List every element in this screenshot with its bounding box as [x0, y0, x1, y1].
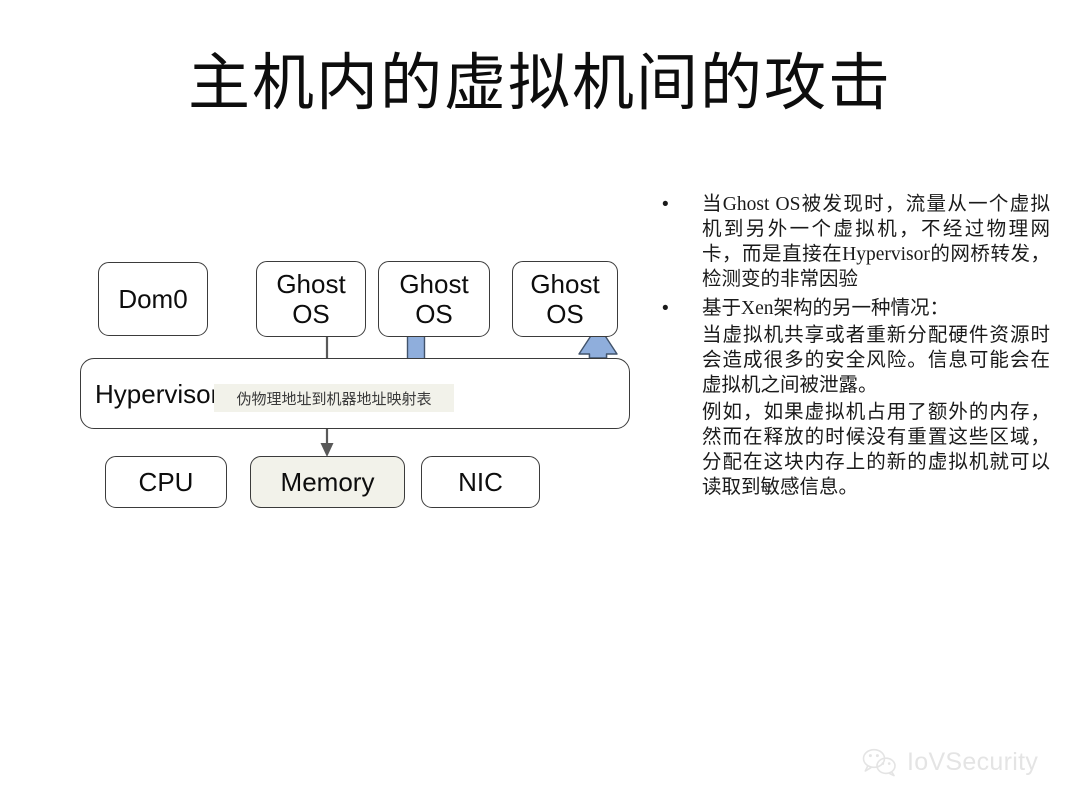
diagram-node-ghost-os-1: Ghost OS: [256, 261, 366, 337]
diagram-node-cpu: CPU: [105, 456, 227, 508]
bullet-marker: •: [662, 296, 669, 321]
bullet-list: • 当Ghost OS被发现时，流量从一个虚拟机到另外一个虚拟机，不经过物理网卡…: [650, 192, 1050, 504]
diagram-node-memory: Memory: [250, 456, 405, 508]
mapping-table-label: 伪物理地址到机器地址映射表: [214, 384, 454, 412]
wechat-icon: [862, 747, 898, 777]
bullet-1-paragraph-1: 当Ghost OS被发现时，流量从一个虚拟机到另外一个虚拟机，不经过物理网卡，而…: [702, 192, 1050, 292]
bullet-2-paragraph-3: 例如，如果虚拟机占用了额外的内存，然而在释放的时候没有重置这些区域，分配在这块内…: [702, 400, 1050, 500]
architecture-diagram: Dom0 Ghost OS Ghost OS Ghost OS Hypervis…: [0, 0, 660, 560]
bullet-2-paragraph-2: 当虚拟机共享或者重新分配硬件资源时会造成很多的安全风险。信息可能会在虚拟机之间被…: [702, 323, 1050, 398]
hypervisor-label: Hypervisor: [81, 379, 219, 409]
bullet-item-2: • 基于Xen架构的另一种情况： 当虚拟机共享或者重新分配硬件资源时会造成很多的…: [650, 296, 1050, 500]
bullet-2-paragraph-1: 基于Xen架构的另一种情况：: [702, 296, 1050, 321]
diagram-node-dom0: Dom0: [98, 262, 208, 336]
diagram-node-nic: NIC: [421, 456, 540, 508]
diagram-node-ghost-os-2: Ghost OS: [378, 261, 490, 337]
bullet-marker: •: [662, 192, 669, 217]
watermark-label: IoVSecurity: [907, 748, 1038, 777]
diagram-node-ghost-os-3: Ghost OS: [512, 261, 618, 337]
bullet-item-1: • 当Ghost OS被发现时，流量从一个虚拟机到另外一个虚拟机，不经过物理网卡…: [650, 192, 1050, 292]
watermark: IoVSecurity: [862, 742, 1062, 782]
